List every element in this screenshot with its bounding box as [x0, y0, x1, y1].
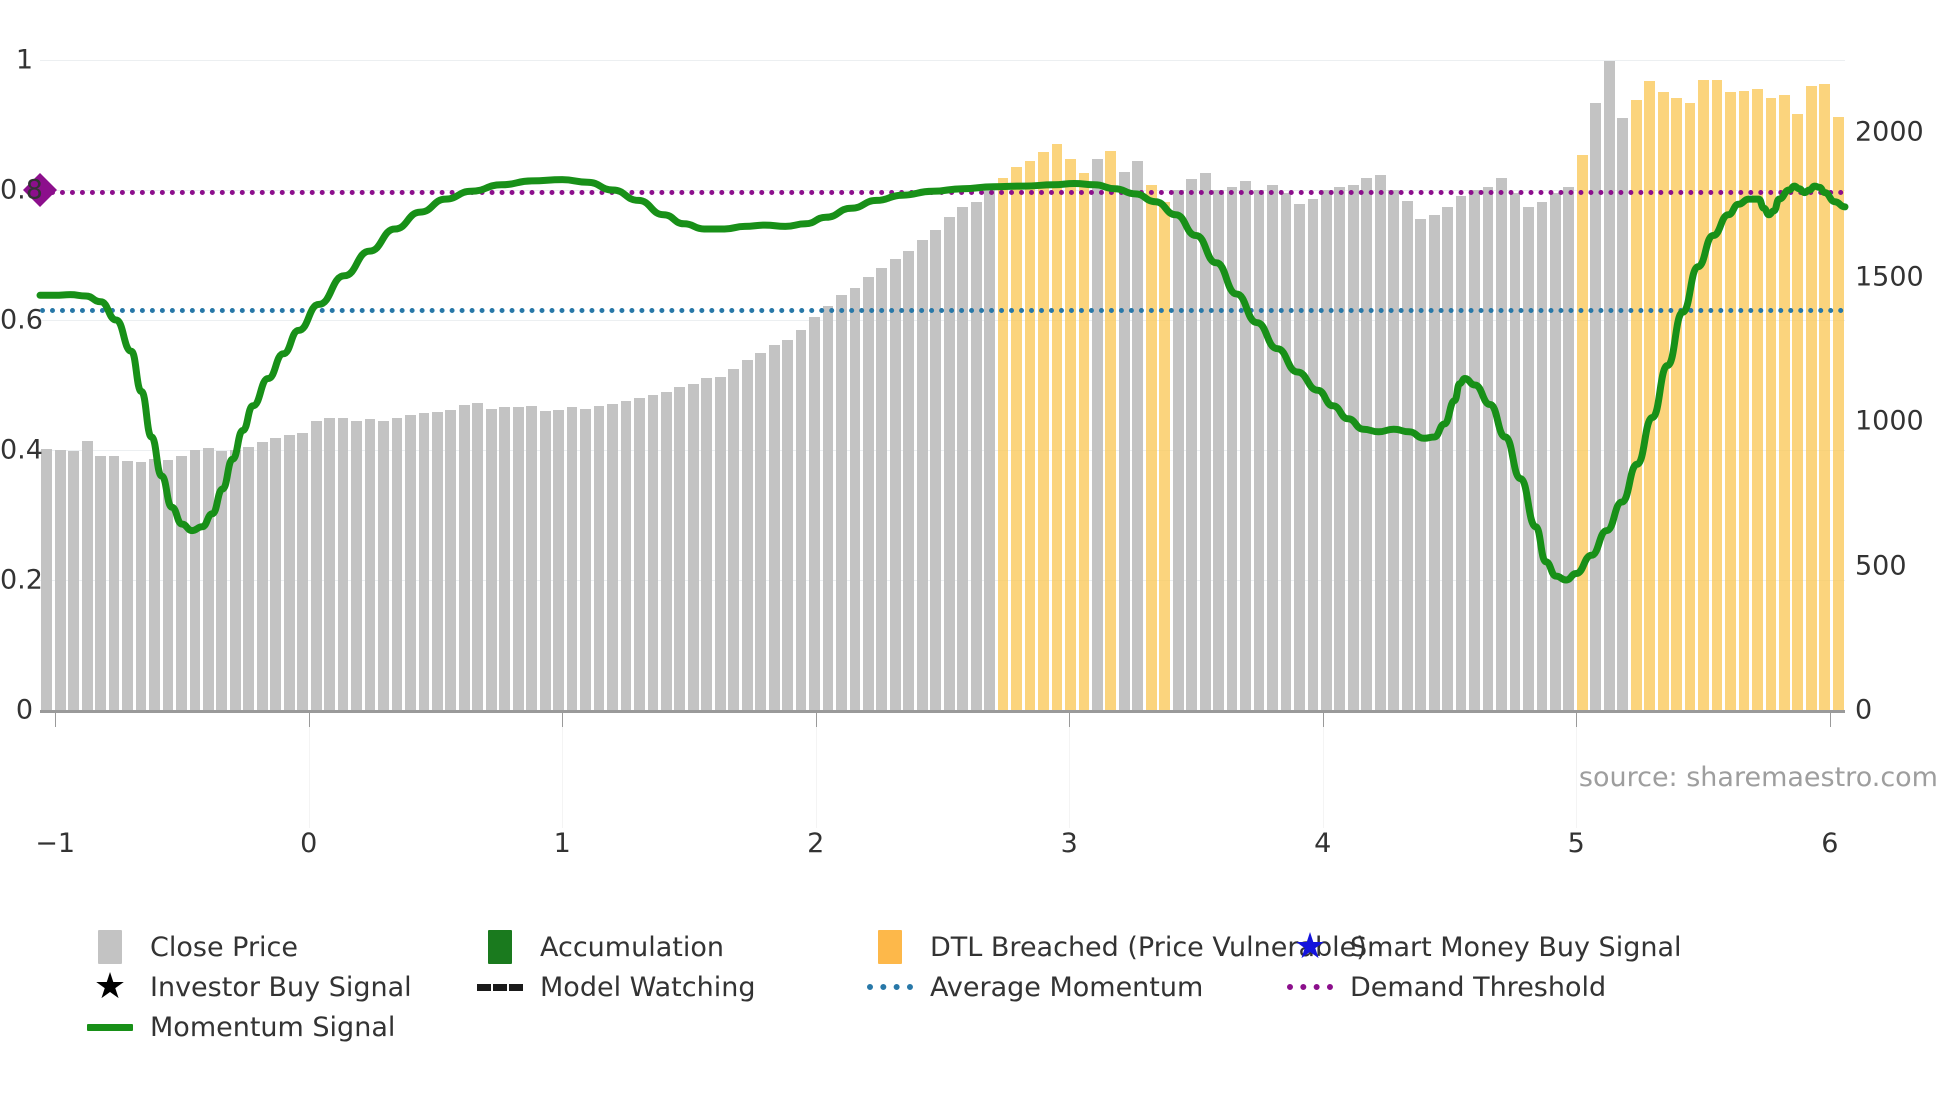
y-right-tick-label: 0	[1855, 695, 1872, 726]
legend-label: Close Price	[150, 932, 298, 963]
square-swatch-icon-wrap	[84, 928, 136, 966]
x-vertical-gridline	[1576, 713, 1577, 828]
chart-root: 00.20.40.60.81 0500100015002000 −1012345…	[0, 0, 1960, 1102]
square-swatch-icon	[488, 930, 512, 964]
dashed-line-icon-wrap	[474, 968, 526, 1006]
legend-label: Momentum Signal	[150, 1012, 395, 1043]
legend-item[interactable]: Close Price	[84, 928, 298, 966]
x-tick	[55, 713, 56, 727]
star-icon-wrap: ★	[1284, 928, 1336, 966]
y-right-tick-label: 2000	[1855, 117, 1924, 148]
legend-row: Close PriceAccumulationDTL Breached (Pri…	[84, 928, 1934, 966]
legend-label: Model Watching	[540, 972, 755, 1003]
chart-legend: Close PriceAccumulationDTL Breached (Pri…	[84, 928, 1934, 1048]
x-tick-label: 6	[1821, 828, 1838, 859]
y-left-tick-label: 0.2	[0, 565, 33, 596]
y-right-tick-label: 1000	[1855, 406, 1924, 437]
dotted-line-icon	[867, 984, 913, 990]
y-left-tick-label: 0	[0, 695, 33, 726]
star-icon: ★	[94, 969, 126, 1005]
x-tick	[1069, 713, 1070, 727]
solid-line-icon-wrap	[84, 1008, 136, 1046]
dashed-line-icon	[477, 984, 523, 991]
legend-item[interactable]: Accumulation	[474, 928, 724, 966]
y-left-tick-label: 0.6	[0, 305, 33, 336]
legend-item[interactable]: Demand Threshold	[1284, 968, 1606, 1006]
solid-line-icon	[87, 1024, 133, 1031]
legend-item[interactable]: Average Momentum	[864, 968, 1203, 1006]
square-swatch-icon	[98, 930, 122, 964]
legend-row: ★Investor Buy SignalModel WatchingAverag…	[84, 968, 1934, 1006]
x-tick-label: −1	[35, 828, 75, 859]
dotted-line-icon-wrap	[864, 968, 916, 1006]
legend-item[interactable]: Model Watching	[474, 968, 755, 1006]
x-tick	[1576, 713, 1577, 727]
y-left-tick-label: 0.8	[0, 175, 33, 206]
legend-label: Accumulation	[540, 932, 724, 963]
dotted-line-icon-wrap	[1284, 968, 1336, 1006]
x-tick	[562, 713, 563, 727]
square-swatch-icon-wrap	[864, 928, 916, 966]
x-vertical-gridline	[1323, 713, 1324, 828]
legend-label: Investor Buy Signal	[150, 972, 412, 1003]
y-left-tick-label: 1	[0, 45, 33, 76]
x-tick-label: 2	[807, 828, 824, 859]
x-axis-line	[40, 710, 1845, 713]
y-right-tick-label: 1500	[1855, 261, 1924, 292]
legend-item[interactable]: Momentum Signal	[84, 1008, 395, 1046]
x-tick	[1830, 713, 1831, 727]
star-icon: ★	[1294, 929, 1326, 965]
x-tick-label: 4	[1314, 828, 1331, 859]
legend-label: Smart Money Buy Signal	[1350, 932, 1682, 963]
x-vertical-gridline	[816, 713, 817, 828]
legend-item[interactable]: ★Smart Money Buy Signal	[1284, 928, 1682, 966]
x-tick	[816, 713, 817, 727]
square-swatch-icon	[878, 930, 902, 964]
x-vertical-gridline	[1069, 713, 1070, 828]
x-vertical-gridline	[562, 713, 563, 828]
x-tick-label: 0	[300, 828, 317, 859]
x-tick-label: 1	[554, 828, 571, 859]
x-tick-label: 3	[1061, 828, 1078, 859]
legend-item[interactable]: ★Investor Buy Signal	[84, 968, 412, 1006]
square-swatch-icon-wrap	[474, 928, 526, 966]
x-vertical-gridline	[309, 713, 310, 828]
legend-row: Momentum Signal	[84, 1008, 1934, 1046]
x-tick	[1323, 713, 1324, 727]
legend-label: Average Momentum	[930, 972, 1203, 1003]
y-right-tick-label: 500	[1855, 550, 1907, 581]
legend-label: Demand Threshold	[1350, 972, 1606, 1003]
star-icon-wrap: ★	[84, 968, 136, 1006]
x-tick	[309, 713, 310, 727]
source-attribution: source: sharemaestro.com	[1579, 762, 1938, 793]
y-left-tick-label: 0.4	[0, 435, 33, 466]
x-tick-label: 5	[1568, 828, 1585, 859]
dotted-line-icon	[1287, 984, 1333, 990]
